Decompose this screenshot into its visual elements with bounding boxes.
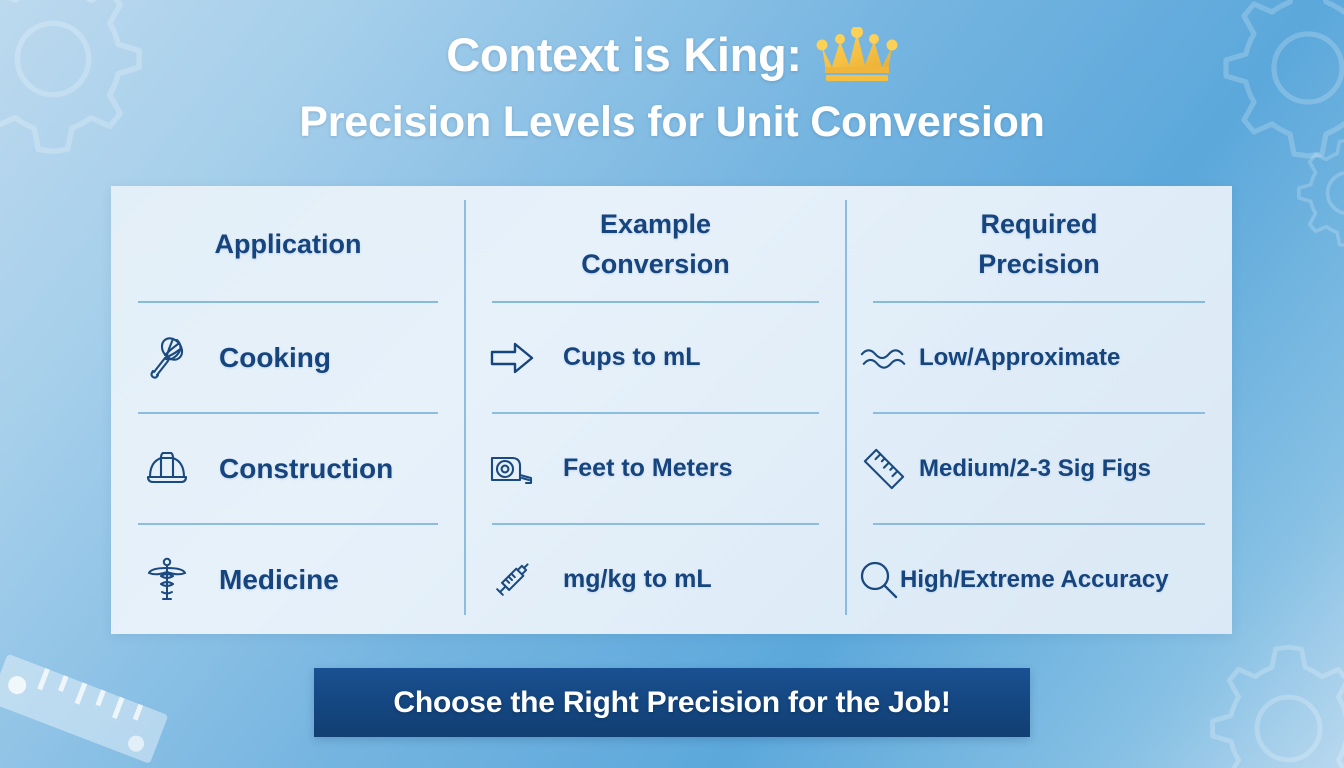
precision-table-card: Application <box>111 186 1232 634</box>
table-row: Low/Approximate <box>846 303 1232 412</box>
table-row: Cups to mL <box>465 303 846 412</box>
row-rule <box>873 523 1205 525</box>
table-row: Construction <box>111 414 465 523</box>
row-rule <box>492 412 819 414</box>
table-row: Cooking <box>111 303 465 412</box>
infographic-canvas: Context is King: <box>0 0 1344 768</box>
hard-hat-icon <box>141 450 193 488</box>
page-title-line-1: Context is King: <box>0 26 1344 94</box>
table-row: High/Extreme Accuracy <box>846 525 1232 634</box>
column-header-precision: Required Precision <box>846 186 1232 301</box>
page-title-line-2: Precision Levels for Unit Conversion <box>0 94 1344 150</box>
ruler-icon <box>858 444 910 494</box>
column-header-conversion: Example Conversion <box>465 186 846 301</box>
row-rule <box>492 523 819 525</box>
header-rule <box>873 301 1205 303</box>
header-rule <box>492 301 819 303</box>
table-row: Medium/2-3 Sig Figs <box>846 414 1232 523</box>
table-column-application: Application <box>111 186 465 634</box>
gear-icon <box>1196 636 1344 768</box>
table-row: Feet to Meters <box>465 414 846 523</box>
cell-label: Low/Approximate <box>919 344 1120 372</box>
cell-label: Cups to mL <box>563 343 701 372</box>
table-row: Medicine <box>111 525 465 634</box>
whisk-icon <box>141 336 193 380</box>
precision-table: Application <box>111 186 1232 634</box>
column-header-application: Application <box>111 186 465 301</box>
crown-icon <box>816 27 898 94</box>
cell-label: Medium/2-3 Sig Figs <box>919 455 1151 483</box>
cta-banner[interactable]: Choose the Right Precision for the Job! <box>314 668 1030 737</box>
cta-banner-label: Choose the Right Precision for the Job! <box>393 686 950 720</box>
cell-label: Feet to Meters <box>563 454 732 483</box>
syringe-icon <box>486 558 538 602</box>
ruler-icon <box>0 641 174 768</box>
caduceus-icon <box>141 557 193 603</box>
table-column-conversion: Example Conversion Cups to mL <box>465 186 846 634</box>
page-title: Context is King: <box>0 26 1344 150</box>
cell-label: mg/kg to mL <box>563 565 712 594</box>
row-rule <box>138 523 438 525</box>
gear-icon <box>1288 133 1344 253</box>
page-title-line-1-text: Context is King: <box>446 28 802 81</box>
tape-measure-icon <box>486 449 538 489</box>
row-rule <box>873 412 1205 414</box>
header-rule <box>138 301 438 303</box>
right-arrow-icon <box>486 341 538 375</box>
table-column-precision: Required Precision Low/Approximate <box>846 186 1232 634</box>
cell-label: Cooking <box>219 342 331 374</box>
waves-icon <box>858 343 910 373</box>
magnifier-icon <box>858 559 900 601</box>
row-rule <box>138 412 438 414</box>
cell-label: Medicine <box>219 564 339 596</box>
cell-label: Construction <box>219 453 393 485</box>
cell-label: High/Extreme Accuracy <box>900 566 1169 594</box>
table-row: mg/kg to mL <box>465 525 846 634</box>
